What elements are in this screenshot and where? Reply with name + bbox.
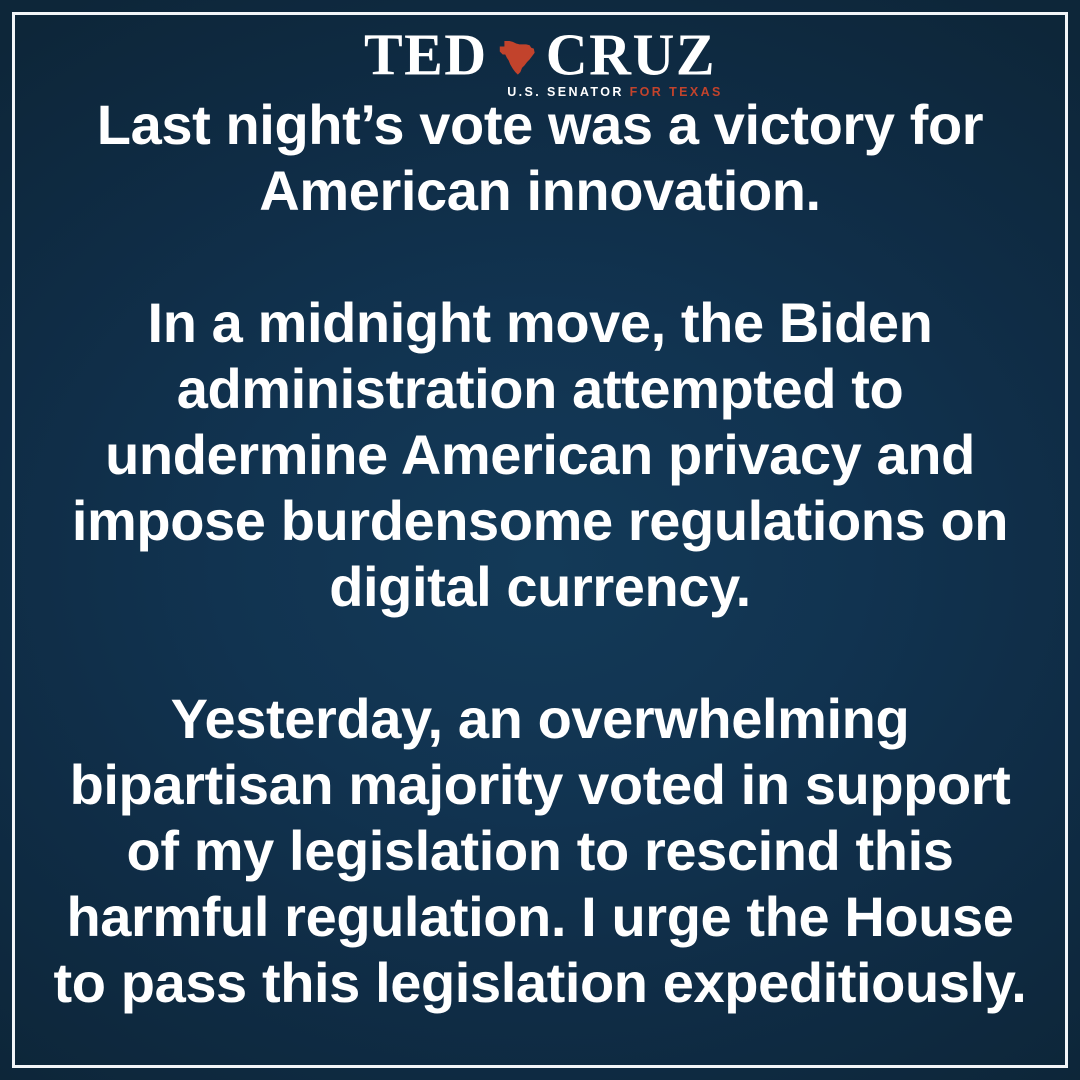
paragraph-spacer xyxy=(50,620,1030,686)
statement-paragraph: In a midnight move, the Biden administra… xyxy=(50,290,1030,620)
paragraph-spacer xyxy=(50,224,1030,290)
texas-state-icon xyxy=(496,36,538,78)
social-media-statement-card: TED CRUZ U.S. SENATOR FOR TEXAS Last nig… xyxy=(0,0,1080,1080)
logo-word-second: CRUZ xyxy=(546,25,716,84)
statement-paragraph: Yesterday, an overwhelming bipartisan ma… xyxy=(50,686,1030,1016)
statement-text-block: Last night’s vote was a victory for Amer… xyxy=(50,92,1030,1016)
statement-paragraph: Last night’s vote was a victory for Amer… xyxy=(50,92,1030,224)
logo-wordmark: TED CRUZ xyxy=(364,26,716,84)
ted-cruz-logo: TED CRUZ U.S. SENATOR FOR TEXAS xyxy=(0,26,1080,100)
logo-word-first: TED xyxy=(364,25,488,84)
